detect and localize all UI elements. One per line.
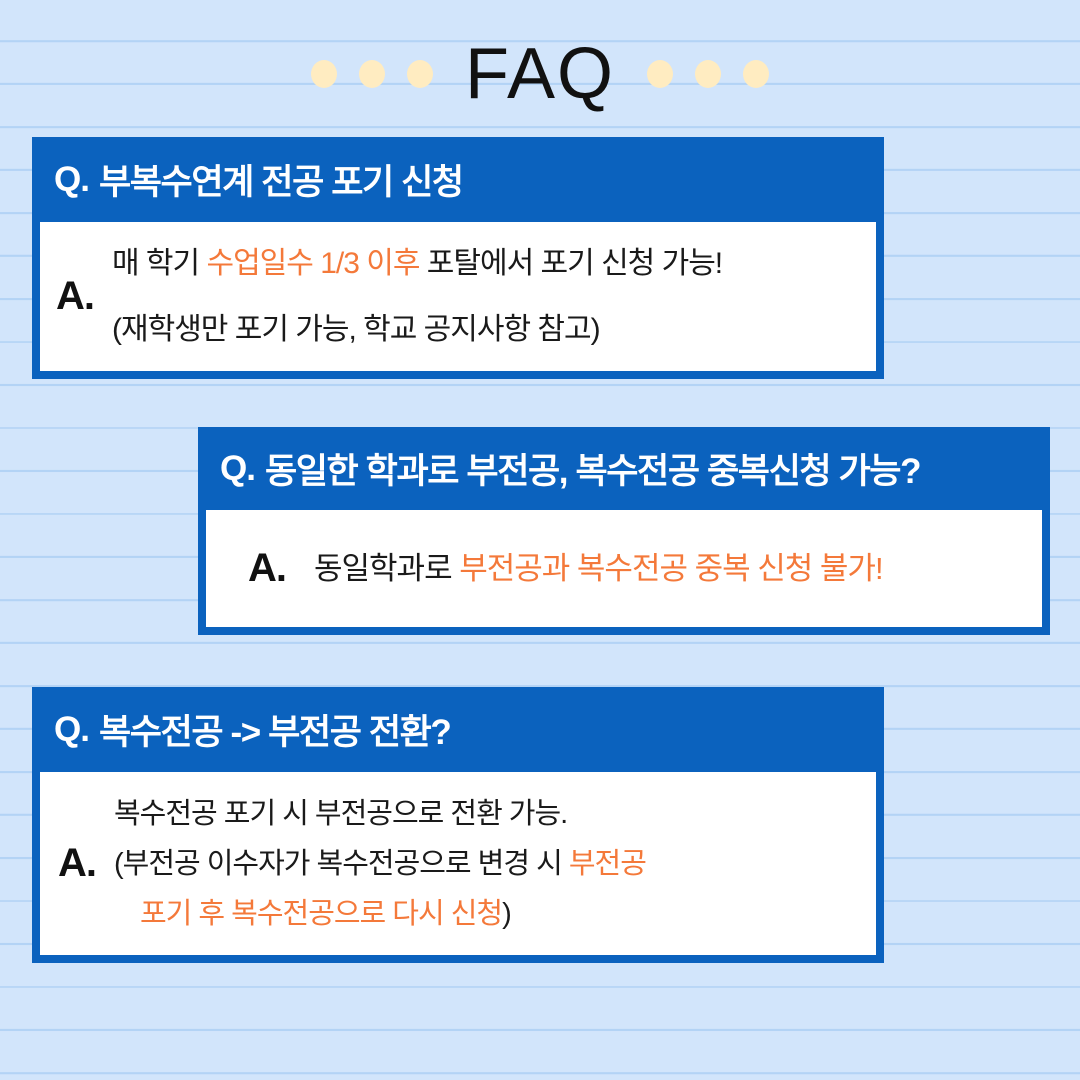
answer-text: 매 학기 수업일수 1/3 이후 포탈에서 포기 신청 가능!(재학생만 포기 … [112,231,722,363]
highlighted-text: 부전공 [569,848,646,880]
plain-text: (부전공 이수자가 복수전공으로 변경 시 [114,848,569,880]
faq-answer-box: A. 동일학과로 부전공과 복수전공 중복 신청 불가! [206,510,1042,627]
dot-icon [407,60,433,88]
question-text: 부복수연계 전공 포기 신청 [99,154,463,205]
dot-icon [743,60,769,88]
answer-line: 동일학과로 부전공과 복수전공 중복 신청 불가! [314,549,883,589]
faq-question-bar: Q. 동일한 학과로 부전공, 복수전공 중복신청 가능? [198,427,1050,510]
faq-answer-box: A. 매 학기 수업일수 1/3 이후 포탈에서 포기 신청 가능!(재학생만 … [40,222,876,371]
answer-line: (부전공 이수자가 복수전공으로 변경 시 부전공 [114,839,646,889]
answer-line: (재학생만 포기 가능, 학교 공지사항 참고) [112,297,722,363]
question-text: 복수전공 -> 부전공 전환? [99,704,450,755]
dot-icon [359,60,385,88]
answer-text: 복수전공 포기 시 부전공으로 전환 가능.(부전공 이수자가 복수전공으로 변… [114,789,646,939]
answer-marker: A. [58,841,96,886]
dot-icon [647,60,673,88]
question-marker: Q. [54,710,89,750]
dot-icon [695,60,721,88]
highlighted-text: 부전공과 복수전공 중복 신청 불가! [459,551,882,586]
plain-text: 복수전공 포기 시 부전공으로 전환 가능. [114,798,567,830]
plain-text: (재학생만 포기 가능, 학교 공지사항 참고) [112,313,600,346]
faq-card: Q. 동일한 학과로 부전공, 복수전공 중복신청 가능? A. 동일학과로 부… [198,427,1050,635]
faq-question-bar: Q. 부복수연계 전공 포기 신청 [32,137,884,222]
dot-icon [311,60,337,88]
faq-question-bar: Q. 복수전공 -> 부전공 전환? [32,687,884,772]
answer-line: 복수전공 포기 시 부전공으로 전환 가능. [114,789,646,839]
question-marker: Q. [54,160,89,200]
plain-text: 포탈에서 포기 신청 가능! [419,247,722,280]
question-text: 동일한 학과로 부전공, 복수전공 중복신청 가능? [265,443,920,494]
answer-line: 매 학기 수업일수 1/3 이후 포탈에서 포기 신청 가능! [112,231,722,297]
page-header: FAQ [0,24,1080,124]
answer-line: 포기 후 복수전공으로 다시 신청) [114,889,646,939]
plain-text: 동일학과로 [314,551,459,586]
question-marker: Q. [220,449,255,489]
highlighted-text: 수업일수 1/3 이후 [206,247,419,280]
faq-answer-box: A. 복수전공 포기 시 부전공으로 전환 가능.(부전공 이수자가 복수전공으… [40,772,876,955]
answer-marker: A. [56,274,94,319]
page-title: FAQ [459,38,621,110]
decorative-dots-left [311,60,433,88]
faq-card: Q. 복수전공 -> 부전공 전환? A. 복수전공 포기 시 부전공으로 전환… [32,687,884,963]
highlighted-text: 포기 후 복수전공으로 다시 신청 [140,898,502,930]
plain-text: ) [502,898,511,930]
decorative-dots-right [647,60,769,88]
answer-marker: A. [248,546,286,591]
faq-card: Q. 부복수연계 전공 포기 신청 A. 매 학기 수업일수 1/3 이후 포탈… [32,137,884,379]
answer-text: 동일학과로 부전공과 복수전공 중복 신청 불가! [314,549,883,589]
plain-text: 매 학기 [112,247,206,280]
